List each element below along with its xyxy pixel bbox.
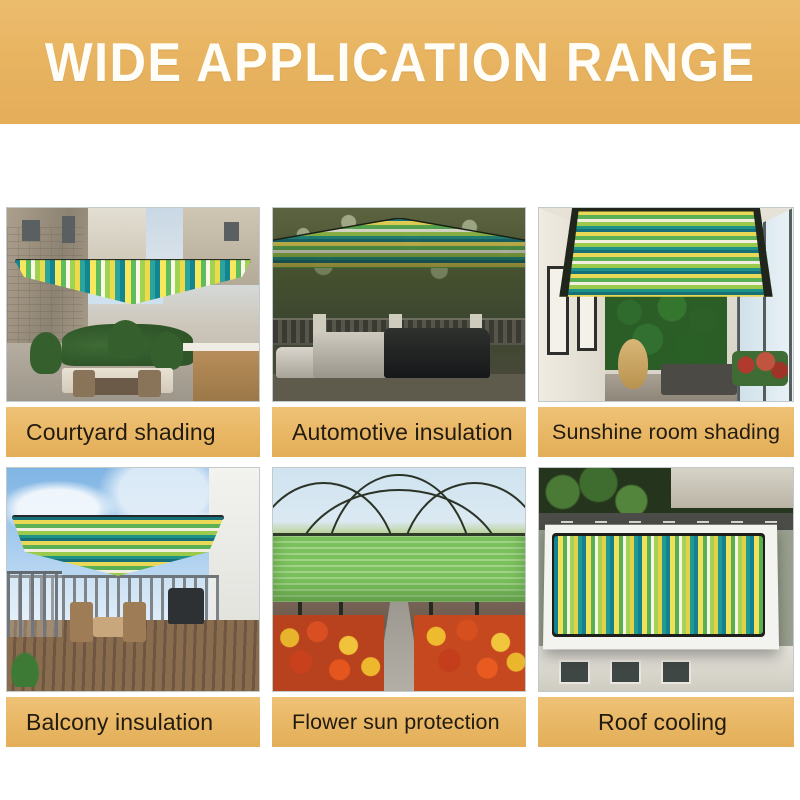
courtyard-window (62, 216, 75, 243)
caption-text-sunshine-room: Sunshine room shading (552, 420, 780, 445)
photo-roof-cooling (538, 467, 794, 692)
application-gallery-grid: Courtyard shading Automotive insulation (0, 207, 800, 747)
courtyard-chair (73, 370, 96, 397)
greenhouse-flower-bed-left (273, 615, 384, 691)
caption-bar-automotive: Automotive insulation (272, 407, 526, 457)
balcony-chair (123, 602, 146, 642)
roof-neighbour-house (666, 468, 793, 508)
caption-bar-balcony: Balcony insulation (6, 697, 260, 747)
courtyard-window (22, 220, 40, 241)
carport-ground (273, 374, 525, 401)
greenhouse-flower-bed-right (414, 615, 525, 691)
caption-text-roof: Roof cooling (598, 709, 727, 736)
sunroom-flower-planter (732, 351, 788, 386)
sunroom-hanging-egg-chair (618, 339, 648, 389)
caption-text-courtyard: Courtyard shading (26, 419, 216, 446)
courtyard-outdoor-counter (193, 347, 259, 401)
caption-bar-courtyard: Courtyard shading (6, 407, 260, 457)
roof-window (559, 660, 589, 685)
gallery-item-roof[interactable]: Roof cooling (532, 467, 800, 747)
courtyard-shrub (30, 332, 63, 374)
balcony-side-railing (7, 571, 62, 638)
gallery-item-sunshine-room[interactable]: Sunshine room shading (532, 207, 800, 457)
gallery-item-balcony[interactable]: Balcony insulation (0, 467, 266, 747)
gallery-item-automotive[interactable]: Automotive insulation (266, 207, 532, 457)
page-title: WIDE APPLICATION RANGE (45, 30, 756, 94)
gallery-item-courtyard[interactable]: Courtyard shading (0, 207, 266, 457)
roof-window (661, 660, 691, 685)
caption-bar-roof: Roof cooling (538, 697, 794, 747)
caption-text-balcony: Balcony insulation (26, 709, 213, 736)
balcony-plant (10, 651, 40, 687)
caption-bar-flower: Flower sun protection (272, 697, 526, 747)
carport-car-black-suv (384, 328, 490, 378)
courtyard-shrub (151, 332, 184, 371)
sunroom-sofa (661, 364, 737, 395)
courtyard-window (224, 222, 239, 241)
caption-text-flower: Flower sun protection (292, 710, 500, 735)
header-banner: WIDE APPLICATION RANGE (0, 0, 800, 124)
gallery-item-flower[interactable]: Flower sun protection (266, 467, 532, 747)
courtyard-counter-top (183, 343, 259, 351)
roof-window (610, 660, 640, 685)
balcony-chair (70, 602, 93, 642)
courtyard-chair (138, 370, 161, 397)
photo-automotive-insulation (272, 207, 526, 402)
courtyard-shrub (108, 320, 143, 359)
caption-bar-sunshine-room: Sunshine room shading (538, 407, 794, 457)
photo-balcony-insulation (6, 467, 260, 692)
photo-flower-sun-protection (272, 467, 526, 692)
photo-sunshine-room-shading (538, 207, 794, 402)
roof-shade-fabric (554, 536, 762, 634)
greenhouse-shade-cloth (273, 535, 525, 602)
greenhouse-shade-rail (273, 533, 525, 536)
balcony-barbecue-grill (168, 588, 203, 624)
sunroom-ceiling-shade-fabric (559, 208, 772, 297)
photo-courtyard-shading (6, 207, 260, 402)
caption-text-automotive: Automotive insulation (292, 419, 513, 446)
